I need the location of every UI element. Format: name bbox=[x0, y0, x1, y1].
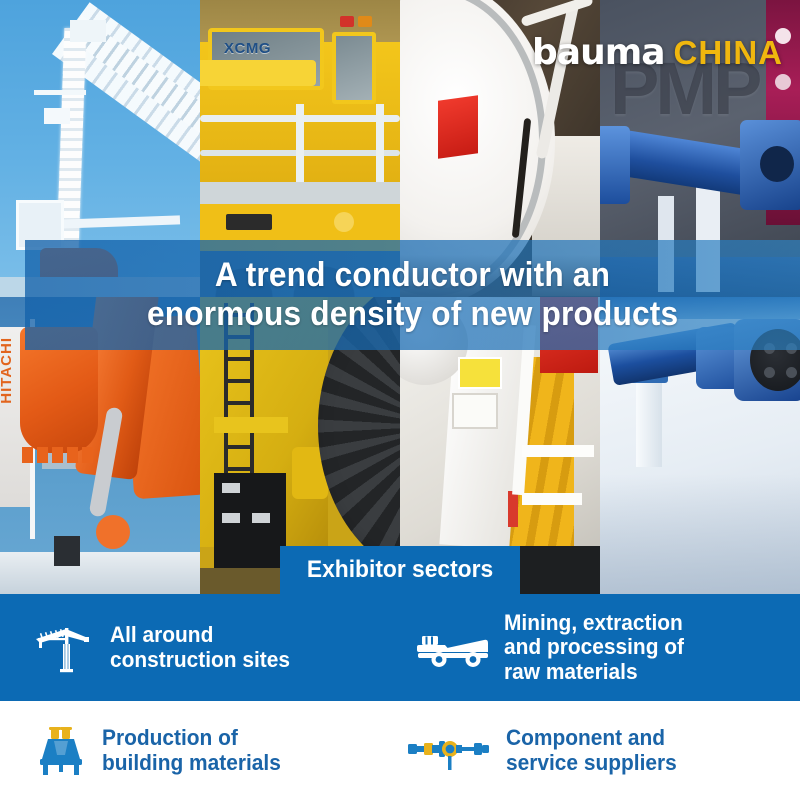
headline-line-1: A trend conductor with an bbox=[215, 256, 610, 295]
panel-label-1 bbox=[222, 483, 240, 493]
truck-rail-post-2 bbox=[376, 104, 384, 182]
sector-line: Component and bbox=[506, 726, 677, 751]
sector-line: building materials bbox=[102, 751, 281, 776]
truck-hood bbox=[200, 60, 316, 86]
mixer-red-marker bbox=[438, 95, 478, 159]
sector-label-mining-extraction: Mining, extraction and processing of raw… bbox=[504, 611, 684, 685]
hydraulic-bolt-4 bbox=[786, 367, 797, 378]
sector-item-building-materials[interactable]: Production of building materials bbox=[0, 725, 400, 777]
sector-band-white: Production of building materials bbox=[0, 701, 800, 800]
hydraulic-shadow bbox=[600, 474, 800, 594]
excavator-dark-detail bbox=[54, 536, 80, 566]
safety-sticker-white bbox=[452, 393, 498, 429]
sector-band-blue: All around construction sites bbox=[0, 594, 800, 701]
bucket-teeth bbox=[22, 447, 96, 463]
hydraulic-bolt-3 bbox=[764, 367, 775, 378]
truck-red-lamp bbox=[340, 16, 354, 27]
truck-side-window bbox=[332, 32, 376, 104]
tower-crane-icon bbox=[34, 623, 96, 673]
excavator-platform bbox=[0, 552, 200, 594]
machine-handrail-2 bbox=[522, 493, 582, 505]
sector-line: All around bbox=[110, 623, 290, 648]
sector-line: Production of bbox=[102, 726, 281, 751]
bucket-pivot bbox=[96, 515, 130, 549]
shaft-hub-center bbox=[760, 146, 794, 182]
sector-label-component-suppliers: Component and service suppliers bbox=[506, 726, 677, 775]
mixing-plant-icon bbox=[34, 725, 88, 777]
exhibitor-sectors-tab: Exhibitor sectors bbox=[280, 546, 520, 594]
sector-label-building-materials: Production of building materials bbox=[102, 726, 281, 775]
sector-item-construction-sites[interactable]: All around construction sites bbox=[0, 623, 400, 673]
xcmg-brand-text: XCMG bbox=[224, 40, 271, 57]
truck-deck bbox=[200, 182, 400, 204]
sector-line: construction sites bbox=[110, 648, 290, 673]
truck-light-box bbox=[226, 214, 272, 230]
headline-banner: A trend conductor with an enormous densi… bbox=[25, 240, 800, 350]
exhibitor-sectors-label: Exhibitor sectors bbox=[307, 556, 493, 584]
bauma-china-promo-poster: XCMG PMP THE APPLIC bbox=[0, 0, 800, 800]
headline-line-2: enormous density of new products bbox=[147, 295, 678, 334]
bauma-wordmark: bauma bbox=[532, 32, 665, 73]
crane-top-cab bbox=[70, 20, 106, 42]
shaft-flange bbox=[600, 126, 630, 204]
mining-truck-icon bbox=[416, 626, 490, 670]
machine-handrail-1 bbox=[522, 445, 594, 457]
drive-shaft-icon bbox=[406, 728, 492, 774]
safety-sticker-yellow bbox=[458, 357, 502, 389]
bauma-china-logo: bauma CHINA bbox=[532, 32, 783, 73]
sector-line: and processing of bbox=[504, 635, 684, 660]
crane-platform bbox=[34, 90, 86, 95]
panel-label-2 bbox=[222, 513, 240, 523]
sector-line: Mining, extraction bbox=[504, 611, 684, 636]
sector-item-component-suppliers[interactable]: Component and service suppliers bbox=[400, 726, 800, 775]
sector-label-construction-sites: All around construction sites bbox=[110, 623, 290, 672]
sector-line: service suppliers bbox=[506, 751, 677, 776]
panel-label-3 bbox=[252, 513, 270, 523]
haul-truck-step bbox=[214, 417, 288, 433]
sector-line: raw materials bbox=[504, 660, 684, 685]
china-wordmark: CHINA bbox=[674, 34, 784, 72]
hydraulic-support-column bbox=[636, 371, 662, 467]
booth-dot-2 bbox=[775, 74, 791, 90]
truck-rail-post-1 bbox=[296, 104, 304, 182]
machine-dark-opening bbox=[520, 546, 600, 594]
sector-item-mining-extraction[interactable]: Mining, extraction and processing of raw… bbox=[400, 611, 800, 685]
safety-sticker-red-strip bbox=[508, 491, 518, 527]
truck-amber-lamp bbox=[358, 16, 372, 27]
crane-mid-cab bbox=[44, 108, 70, 124]
truck-round-detail bbox=[334, 212, 354, 232]
